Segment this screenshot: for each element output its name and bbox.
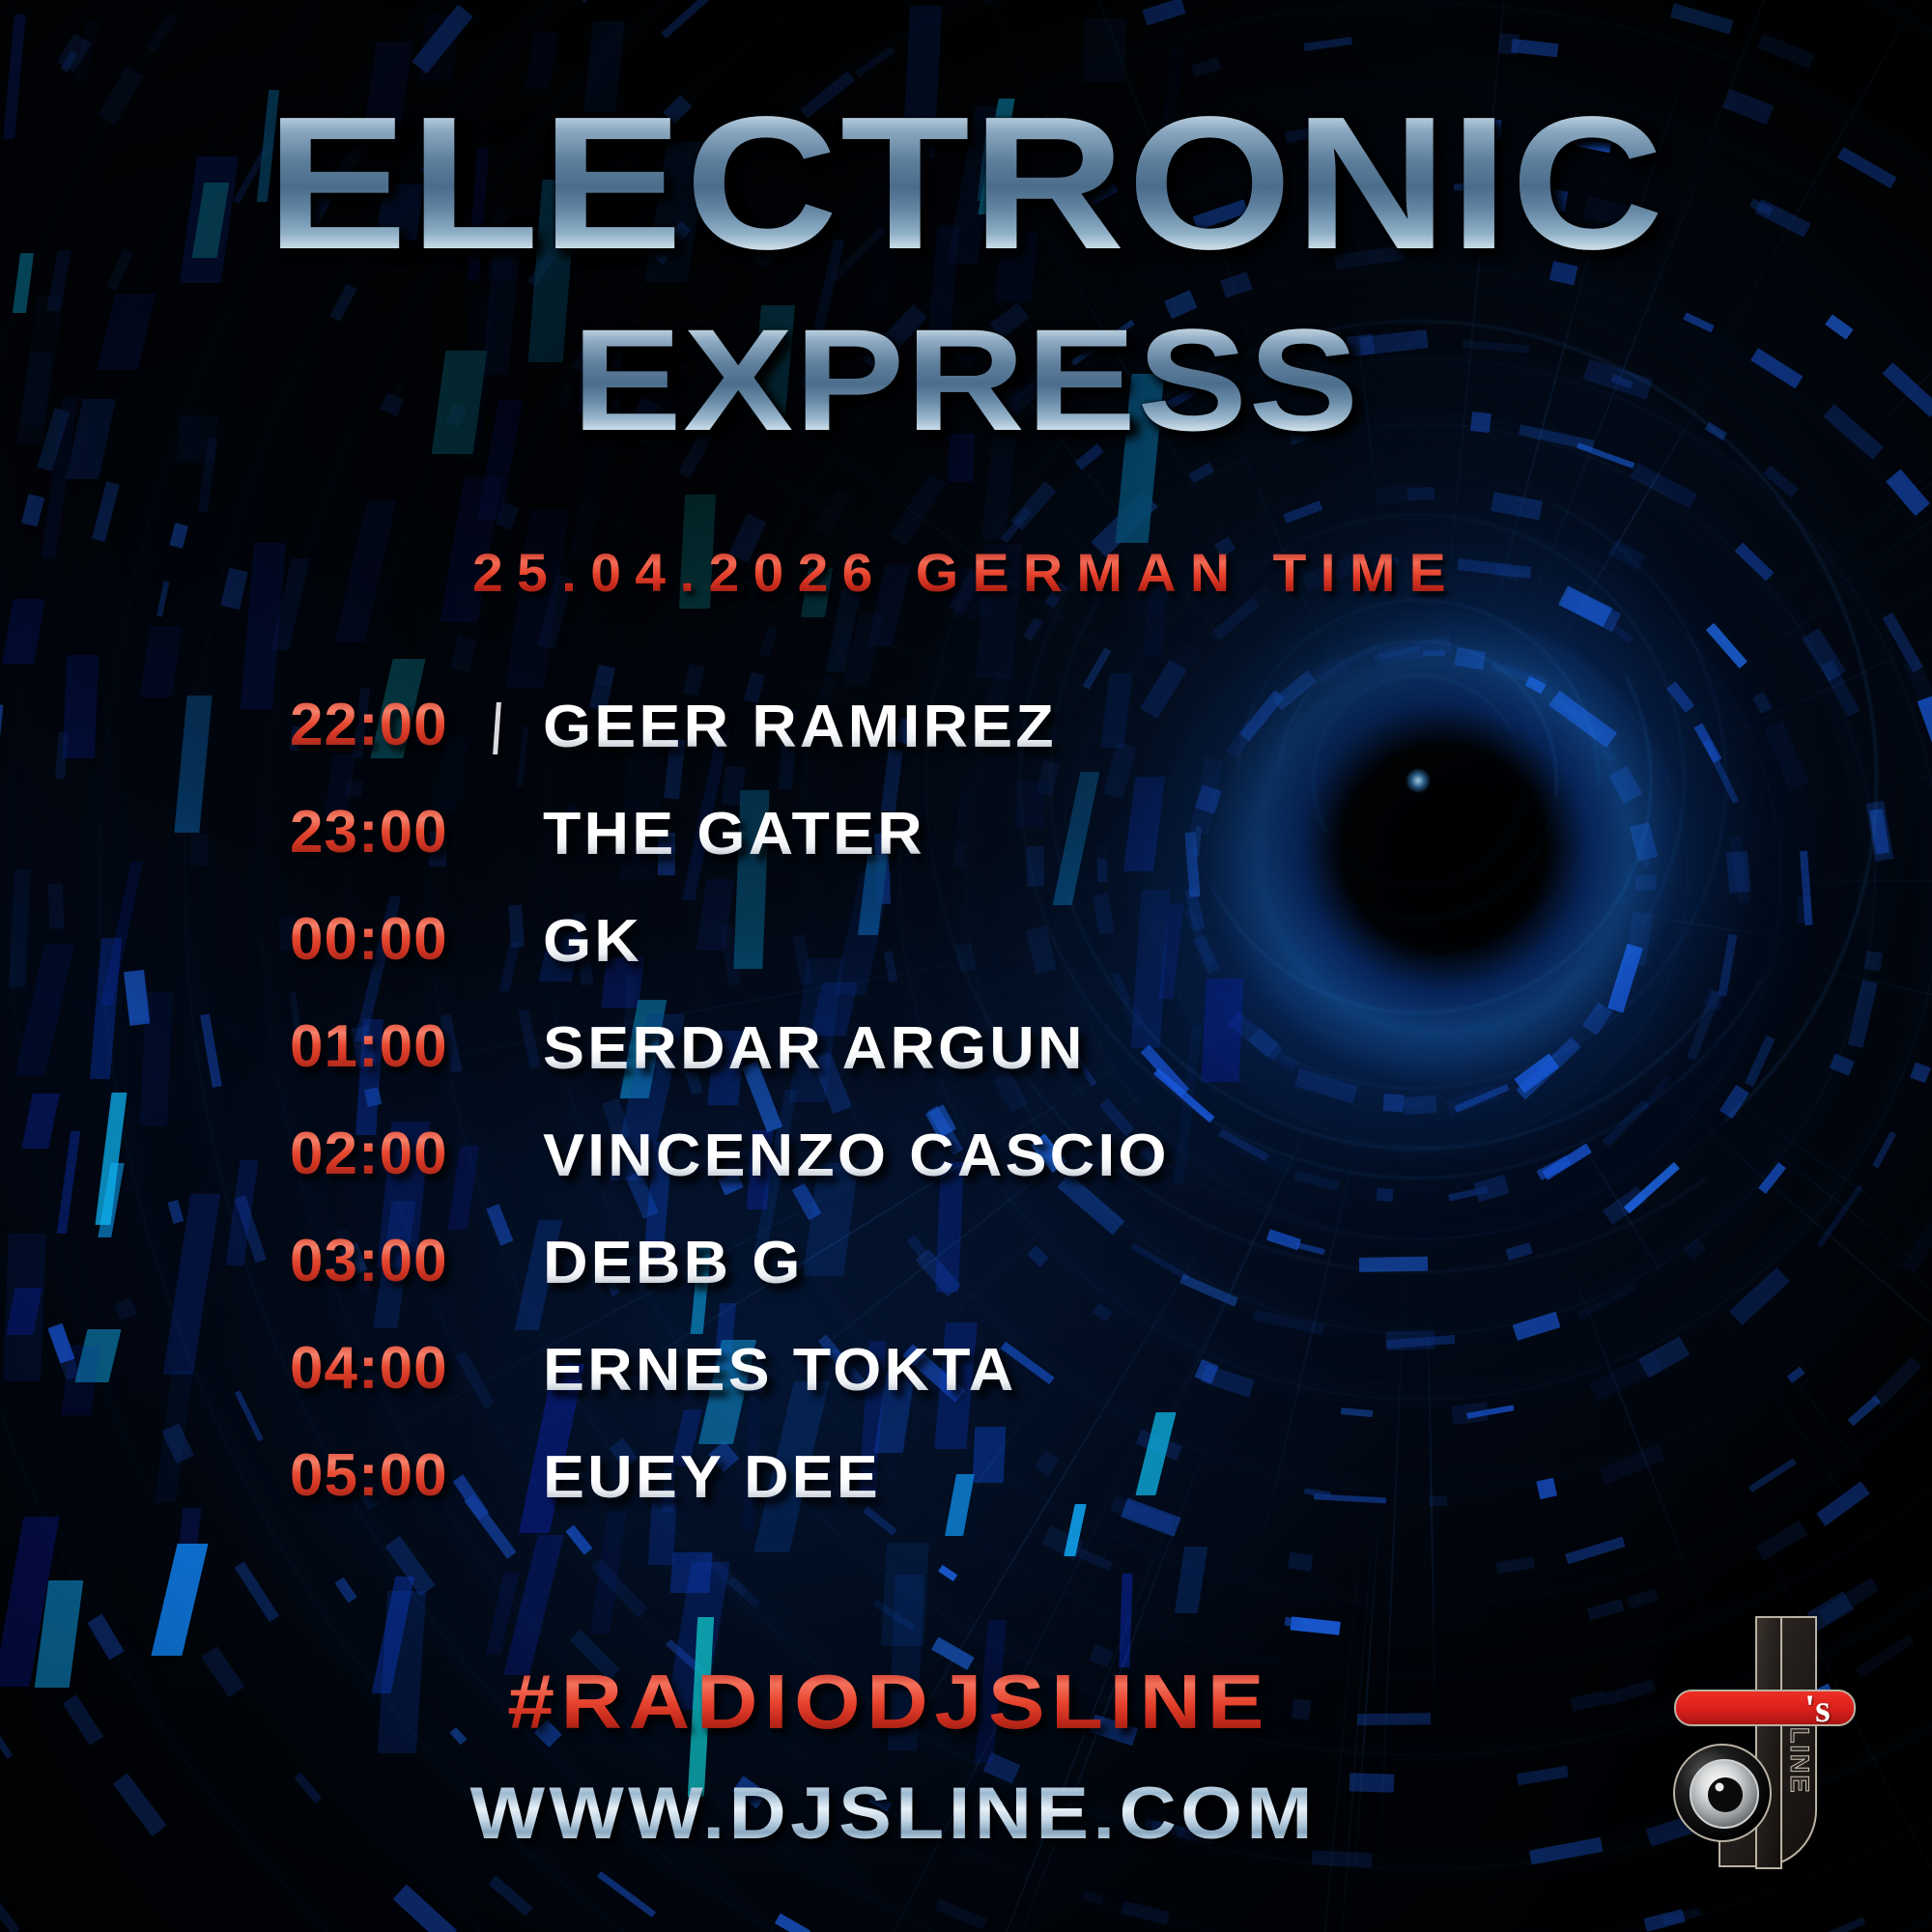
logo-apostrophe-s: 's xyxy=(1804,1686,1831,1731)
page-title: ELECTRONIC xyxy=(266,89,1665,278)
dateline-block: 25.04.2026 GERMAN TIME xyxy=(0,541,1932,604)
lineup-row: 02:00VINCENZO CASCIO xyxy=(290,1120,1546,1227)
event-flyer: ELECTRONIC EXPRESS 25.04.2026 GERMAN TIM… xyxy=(0,0,1932,1932)
lineup-row-artist: ERNES TOKTA xyxy=(543,1336,1017,1405)
logo-speaker-highlight xyxy=(1716,1783,1724,1792)
lineup-row: 03:00DEBB G xyxy=(290,1227,1546,1334)
website-url[interactable]: WWW.DJSLINE.COM xyxy=(470,1772,1317,1856)
lineup-row-artist: EUEY DEE xyxy=(543,1443,881,1512)
logo-speaker-dome xyxy=(1708,1777,1743,1812)
lineup-row: 23:00THE GATER xyxy=(290,798,1546,905)
lineup-row-artist: GK xyxy=(543,907,642,976)
lineup-row-time: 04:00 xyxy=(290,1334,483,1403)
logo-letter-d-stem xyxy=(1756,1617,1781,1868)
lineup-row-time: 01:00 xyxy=(290,1012,483,1081)
lineup-row: 04:00ERNES TOKTA xyxy=(290,1334,1546,1441)
lineup-row-separator xyxy=(493,702,501,754)
event-dateline: 25.04.2026 GERMAN TIME xyxy=(472,541,1460,604)
lineup-row-artist: THE GATER xyxy=(543,800,925,868)
lineup-row: 05:00EUEY DEE xyxy=(290,1441,1546,1548)
lineup-row: 22:00GEER RAMIREZ xyxy=(290,691,1546,798)
lineup-row-artist: GEER RAMIREZ xyxy=(543,693,1057,761)
logo-line-text: LINE xyxy=(1784,1727,1814,1795)
lineup-row-artist: VINCENZO CASCIO xyxy=(543,1122,1170,1190)
hashtag: #RADIODJSLINE xyxy=(507,1658,1270,1747)
lineup-row-artist: SERDAR ARGUN xyxy=(543,1014,1086,1083)
djsline-logo-mark xyxy=(1633,1605,1922,1924)
lineup-row-time: 22:00 xyxy=(290,691,483,759)
lineup-list: 22:00GEER RAMIREZ23:00THE GATER00:00GK01… xyxy=(290,691,1546,1548)
lineup-row-time: 23:00 xyxy=(290,798,483,867)
djsline-logo[interactable]: 's LINE xyxy=(1633,1605,1922,1924)
lineup-row-time: 00:00 xyxy=(290,905,483,974)
lineup-row-time: 02:00 xyxy=(290,1120,483,1188)
page-subtitle: EXPRESS xyxy=(572,307,1360,452)
lineup-row-time: 03:00 xyxy=(290,1227,483,1295)
lineup-row-artist: DEBB G xyxy=(543,1229,804,1297)
subtitle-block: EXPRESS xyxy=(0,307,1932,452)
title-block: ELECTRONIC xyxy=(0,89,1932,278)
lineup-row: 01:00SERDAR ARGUN xyxy=(290,1012,1546,1120)
lineup-row: 00:00GK xyxy=(290,905,1546,1012)
lineup-row-time: 05:00 xyxy=(290,1441,483,1510)
